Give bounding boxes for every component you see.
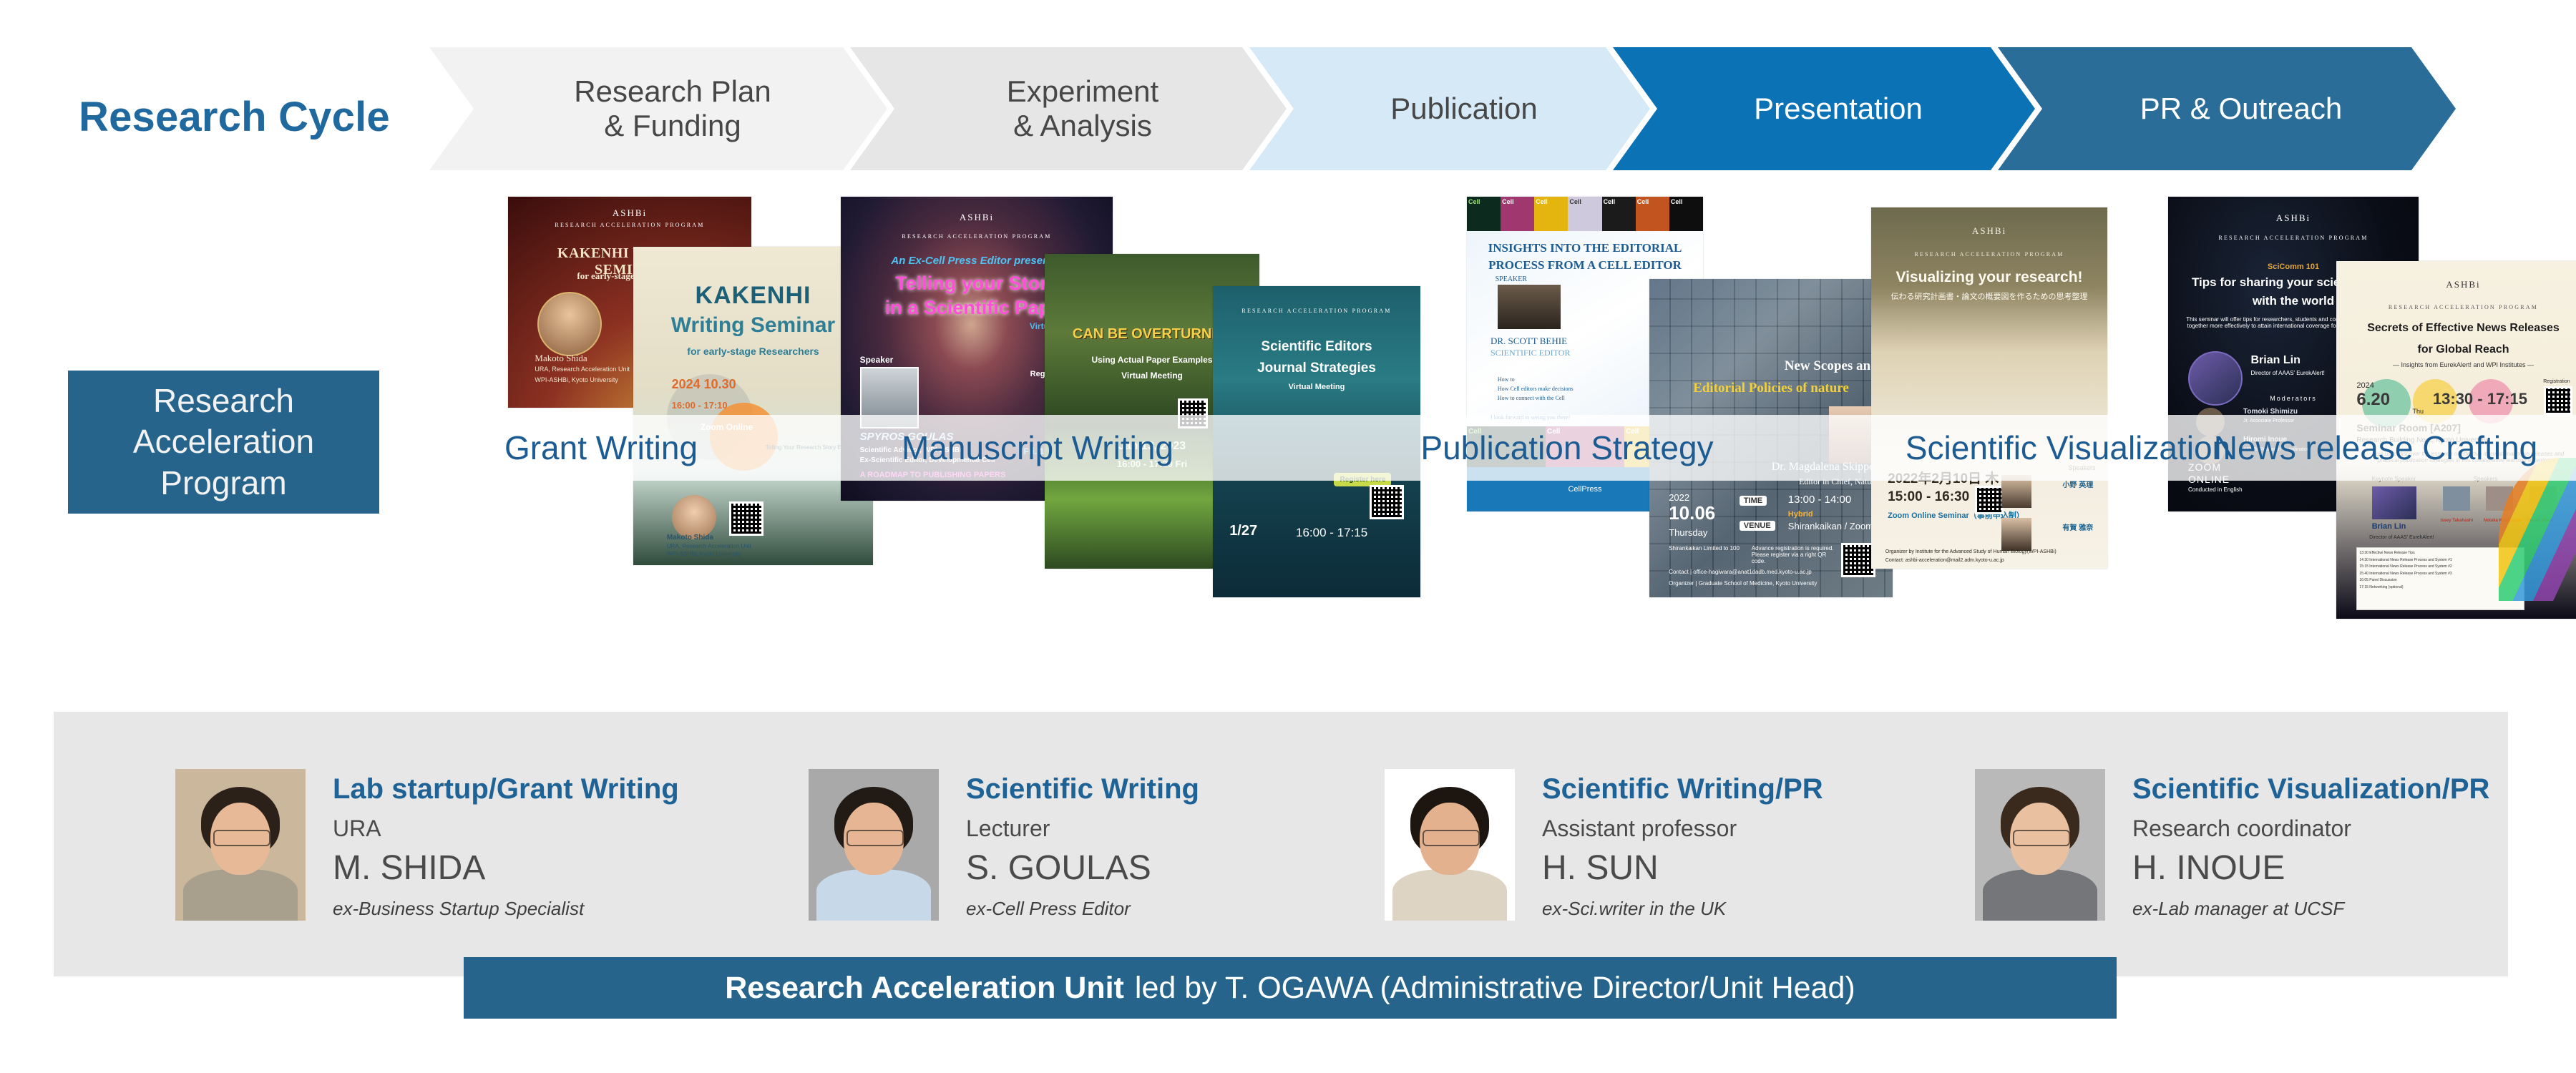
stage-chevron-4[interactable]: Presentation	[1613, 47, 2035, 170]
staff-previous-role: ex-Lab manager at UCSF	[2132, 898, 2489, 920]
poster-org-sub: RESEARCH ACCELERATION PROGRAM	[2336, 304, 2576, 310]
poster-org: ASHBi	[508, 207, 751, 219]
poster-title-line1: New Scopes and	[1664, 358, 1878, 374]
stage-chevron-1[interactable]: Research Plan& Funding	[429, 47, 887, 170]
poster-org: ASHBi	[841, 212, 1113, 223]
poster-weekday: Thursday	[1669, 527, 1707, 538]
stage-label-line1: Research Plan	[574, 74, 771, 109]
program-label-news-release-crafting: News release Crafting	[2175, 415, 2576, 481]
agenda-row: 15:15 International News Release Process…	[2359, 564, 2521, 571]
stage-label-line1: Experiment	[1007, 74, 1158, 109]
poster-qr-code	[729, 501, 763, 536]
staff-name: M. SHIDA	[333, 850, 679, 888]
poster-date: 10.06	[1669, 502, 1715, 524]
poster-visualizing-your-research: ASHBi RESEARCH ACCELERATION PROGRAM Visu…	[1871, 207, 2107, 569]
program-label-manuscript-writing: Manuscript Writing	[809, 415, 1267, 481]
staff-previous-role: ex-Cell Press Editor	[966, 898, 1199, 920]
staff-title: Research coordinator	[2132, 816, 2489, 841]
poster-qr-code	[2544, 386, 2572, 415]
unit-bar-lead: Research Acceleration Unit	[725, 971, 1124, 1006]
poster-venue-mode: Hybrid	[1788, 510, 1813, 519]
poster-footer-2: Contact: ashbi-acceleration@mail2.adm.ky…	[1885, 558, 2004, 563]
poster-speaker-photo	[1498, 285, 1561, 329]
poster-title-line2: Journal Strategies	[1225, 361, 1407, 376]
unit-bar-rest: led by T. OGAWA (Administrative Director…	[1135, 971, 1855, 1006]
poster-speaker-photo	[537, 292, 602, 356]
staff-role: Scientific Writing	[966, 773, 1199, 805]
poster-affiliation-1: URA, Research Acceleration Unit	[535, 366, 630, 373]
poster-affiliation-2: WPI-ASHBi, Kyoto University	[667, 551, 741, 557]
poster-time: 13:30 - 17:15	[2433, 390, 2527, 408]
poster-title-line2: Writing Seminar	[648, 313, 859, 338]
avatar	[1975, 769, 2105, 921]
poster-keynote-speaker: Brian Lin	[2372, 522, 2406, 531]
agenda-row: 15:40 International News Release Process…	[2359, 571, 2521, 578]
poster-affiliation-1: URA, Research Acceleration Unit	[667, 543, 751, 549]
poster-title-tail: — Insights from EurekAlert! and WPI Inst…	[2351, 361, 2575, 368]
poster-org: ASHBi	[2336, 279, 2576, 290]
page-title: Research Cycle	[79, 93, 408, 141]
poster-date: 6.20	[2356, 390, 2390, 410]
poster-bullet-1: How to	[1498, 376, 1515, 383]
poster-contact: Contact | office-hagiwara@anat1dadb.med.…	[1669, 569, 1812, 575]
poster-speaker-role: SCIENTIFIC EDITOR	[1491, 348, 1570, 358]
poster-affiliation-2: WPI-ASHBi, Kyoto University	[535, 376, 618, 383]
poster-footer-1: Organizer by Institute for the Advanced …	[1885, 549, 2057, 554]
poster-kakenhi-writing-seminar-cream: KAKENHI Writing Seminar for early-stage …	[633, 247, 873, 565]
avatar	[1385, 769, 1515, 921]
stage-label-line1: Publication	[1390, 92, 1537, 126]
poster-speaker-2-photo	[2001, 518, 2031, 551]
poster-subtitle: 伝わる研究計画書・論文の概要図を作るための思考整理	[1885, 290, 2093, 302]
poster-speaker-1: Issey Takahashi	[2441, 519, 2474, 523]
poster-date: 2024 10.30	[672, 377, 736, 392]
poster-time: 16:00 - 17:15	[1296, 526, 1367, 540]
research-acceleration-program-box: Research Acceleration Program	[68, 371, 379, 514]
poster-title-line1: INSIGHTS INTO THE EDITORIAL	[1481, 241, 1689, 255]
poster-title-line2: Editorial Policies of nature	[1664, 381, 1878, 396]
poster-org: ASHBi	[1871, 225, 2107, 237]
program-box-line3: Program	[160, 464, 286, 501]
poster-org-sub: RESEARCH ACCELERATION PROGRAM	[508, 222, 751, 228]
stage-label-line2: & Funding	[574, 109, 771, 143]
staff-name: S. GOULAS	[966, 850, 1199, 888]
poster-speaker-1-photo	[2443, 486, 2470, 511]
poster-qr-code	[1841, 543, 1875, 577]
poster-org: ASHBi	[2168, 212, 2419, 224]
program-box-line1: Research	[153, 382, 294, 419]
staff-title: URA	[333, 816, 679, 841]
poster-speaker-label: Speaker	[860, 355, 894, 365]
poster-speaker: Makoto Shida	[535, 353, 587, 364]
poster-qr-code	[1975, 486, 2004, 514]
poster-subtitle: for early-stage Researchers	[648, 346, 859, 357]
staff-card: Scientific Writing/PRAssistant professor…	[1385, 769, 1823, 921]
staff-title: Lecturer	[966, 816, 1199, 841]
poster-keynote-speaker: Brian Lin	[2251, 354, 2301, 367]
poster-bullet-2: How Cell editors make decisions	[1498, 386, 1574, 392]
stage-label-line1: Presentation	[1754, 92, 1923, 126]
agenda-row: 13:30 Effective News Release Tips	[2359, 550, 2521, 557]
program-box-line2: Acceleration	[133, 423, 314, 460]
staff-card: Scientific WritingLecturerS. GOULASex-Ce…	[809, 769, 1199, 921]
poster-time: 13:00 - 14:00	[1788, 494, 1851, 506]
poster-time-label: TIME	[1740, 496, 1767, 506]
poster-time: 15:00 - 16:30	[1888, 489, 1969, 505]
program-label-publication-strategy: Publication Strategy	[1338, 415, 1796, 481]
poster-keynote-role: Director of AAAS' EurekAlert!	[2251, 370, 2325, 376]
poster-org-sub: RESEARCH ACCELERATION PROGRAM	[1871, 251, 2107, 258]
program-label-grant-writing: Grant Writing	[401, 415, 801, 481]
poster-venue-label: VENUE	[1740, 521, 1775, 531]
staff-card: Lab startup/Grant WritingURAM. SHIDAex-B…	[175, 769, 679, 921]
poster-venue-note: Conducted in English	[2188, 486, 2243, 493]
poster-journal-cover-strip: Cell Cell Cell Cell Cell Cell Cell	[1467, 197, 1703, 231]
staff-role: Scientific Visualization/PR	[2132, 773, 2489, 805]
poster-registration-note: Advance registration is required. Please…	[1752, 545, 1835, 564]
staff-role: Scientific Writing/PR	[1542, 773, 1823, 805]
poster-org-sub: RESEARCH ACCELERATION PROGRAM	[841, 233, 1113, 240]
research-acceleration-unit-bar: Research Acceleration Unit led by T. OGA…	[464, 957, 2117, 1019]
research-cycle-chevrons: Research Plan& FundingExperiment& Analys…	[429, 47, 2576, 170]
poster-speaker-label: SPEAKER	[1496, 275, 1527, 283]
poster-time: 16:00 - 17:10	[672, 400, 728, 411]
poster-org-sub: RESEARCH ACCELERATION PROGRAM	[1213, 308, 1420, 314]
stage-chevron-5[interactable]: PR & Outreach	[1998, 47, 2456, 170]
poster-capacity: Shirankaikan Limited to 100	[1669, 545, 1742, 552]
stage-chevron-2[interactable]: Experiment& Analysis	[850, 47, 1287, 170]
poster-venue: Shirankaikan / Zoom	[1788, 521, 1873, 531]
poster-year: 2024	[2356, 381, 2373, 390]
poster-title-line1: Secrets of Effective News Releases	[2351, 322, 2575, 335]
poster-org-sub: RESEARCH ACCELERATION PROGRAM	[2168, 235, 2419, 241]
poster-registration-label: Registration	[2543, 379, 2570, 384]
poster-title: Visualizing your research!	[1885, 269, 2093, 286]
avatar	[175, 769, 306, 921]
poster-date: 1/27	[1229, 523, 1257, 539]
staff-previous-role: ex-Business Startup Specialist	[333, 898, 679, 920]
poster-title-line2: for Global Reach	[2351, 343, 2575, 356]
infographic-root: Research Cycle Research Plan& FundingExp…	[0, 0, 2576, 1073]
staff-previous-role: ex-Sci.writer in the UK	[1542, 898, 1823, 920]
stage-label-line1: PR & Outreach	[2140, 92, 2342, 126]
poster-bullet-3: How to connect with the Cell	[1498, 395, 1565, 401]
poster-keynote-photo	[2372, 486, 2416, 519]
poster-title-line2: PROCESS FROM A CELL EDITOR	[1481, 258, 1689, 273]
stage-label-line2: & Analysis	[1007, 109, 1158, 143]
poster-speaker: Makoto Shida	[667, 534, 713, 542]
poster-speaker-2: 有賀 雅奈	[2062, 521, 2093, 532]
poster-title-line1: KAKENHI	[648, 282, 859, 310]
poster-meeting-mode: Virtual Meeting	[1225, 383, 1407, 391]
agenda-row: 17:15 Networking (optional)	[2359, 584, 2521, 592]
avatar	[809, 769, 939, 921]
agenda-row: 14:30 International News Release Process…	[2359, 557, 2521, 564]
poster-qr-code	[1370, 485, 1404, 519]
staff-name: H. INOUE	[2132, 850, 2489, 888]
staff-name: H. SUN	[1542, 850, 1823, 888]
poster-speaker: DR. SCOTT BEHIE	[1491, 335, 1567, 347]
poster-weekday: Thu	[2413, 408, 2424, 415]
poster-keynote-role: Director of AAAS' EurekAlert!	[2369, 535, 2434, 540]
poster-organizer: Organizer | Graduate School of Medicine,…	[1669, 580, 1817, 587]
staff-card: Scientific Visualization/PRResearch coor…	[1975, 769, 2489, 921]
agenda-row: 16:05 Panel Discussion	[2359, 577, 2521, 584]
poster-title-line1: Scientific Editors	[1225, 339, 1407, 355]
staff-role: Lab startup/Grant Writing	[333, 773, 679, 805]
stage-chevron-3[interactable]: Publication	[1249, 47, 1650, 170]
staff-title: Assistant professor	[1542, 816, 1823, 841]
